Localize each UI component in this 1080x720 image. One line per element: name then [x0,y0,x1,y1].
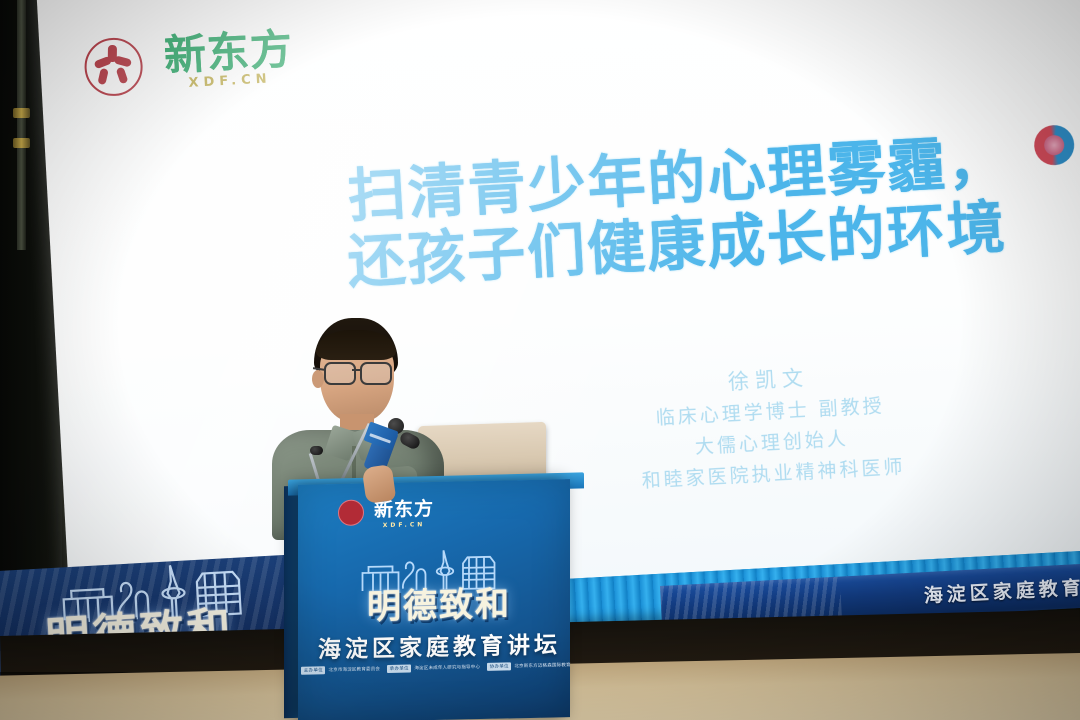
hand [362,464,397,504]
speaker-credentials: 徐凯文 临床心理学博士 副教授 大儒心理创始人 和睦家医院执业精神科医师 [578,353,964,500]
pole-cuff [13,138,30,148]
slide-title: 扫清青少年的心理雾霾， 还孩子们健康成长的环境 [346,126,1052,296]
conference-photo-scene: 新东方 XDF.CN 扫清青少年的心理雾霾， 还孩子们健康成长的环境 徐凯文 临… [0,0,1080,720]
xdf-seal-icon [338,499,364,526]
sponsor-tag: 主办单位北京市海淀区教育委员会 [301,665,380,675]
sponsor-tag: 承办单位海淀区未成年人研究与指导中心 [387,663,480,673]
glasses-icon [320,362,398,382]
sponsor-tag-label: 协办单位 [487,662,511,671]
sponsor-tag-value: 北京市海淀区教育委员会 [328,666,380,673]
screen-brand-logo: 新东方 XDF.CN [83,28,295,97]
sponsor-tag-label: 主办单位 [301,666,325,675]
xdf-brand-name-cn: 新东方 [163,30,294,76]
sponsor-tag-value: 北京新东方迈格森国际教育 [514,662,570,669]
sponsor-tag-value: 海淀区未成年人研究与指导中心 [414,664,480,671]
gooseneck-microphone-head [310,446,323,455]
right-banner-text: 海淀区家庭教育讲坛 [923,570,1080,608]
pole-cuff [13,108,30,118]
podium-front-panel: 新东方 XDF.CN 明德致和 海淀区家庭教育讲坛 主办单位北京市海淀区教育委员… [298,479,570,720]
hair-front [316,330,396,360]
podium-logo-text: 明德致和 [354,576,524,629]
podium-brand-name-en: XDF.CN [374,521,434,529]
vertical-pole [17,0,26,250]
podium-subtitle: 海淀区家庭教育讲坛 [318,625,554,664]
xdf-seal-icon [83,36,144,97]
sponsor-tag-label: 承办单位 [387,664,411,673]
sponsor-tag: 协办单位北京新东方迈格森国际教育 [487,661,571,671]
